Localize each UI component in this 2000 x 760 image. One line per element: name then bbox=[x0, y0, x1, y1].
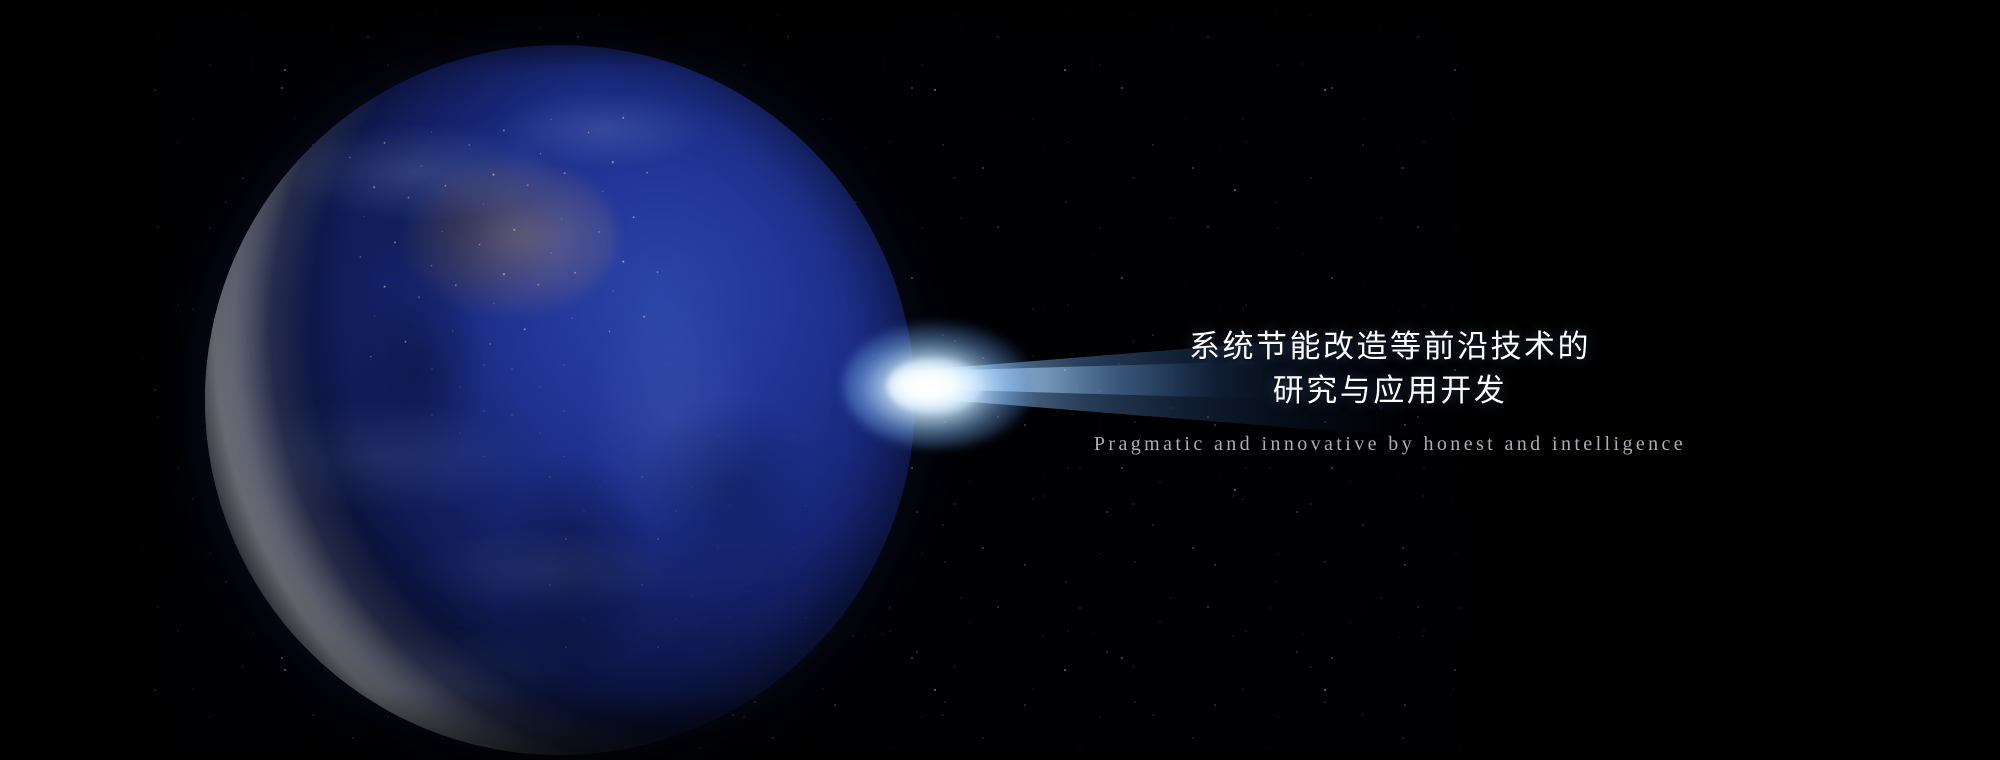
space-photo-plate bbox=[135, 0, 1490, 760]
plate-edge-vignette bbox=[135, 0, 1490, 760]
hero-banner: 系统节能改造等前沿技术的 研究与应用开发 Pragmatic and innov… bbox=[0, 0, 2000, 760]
